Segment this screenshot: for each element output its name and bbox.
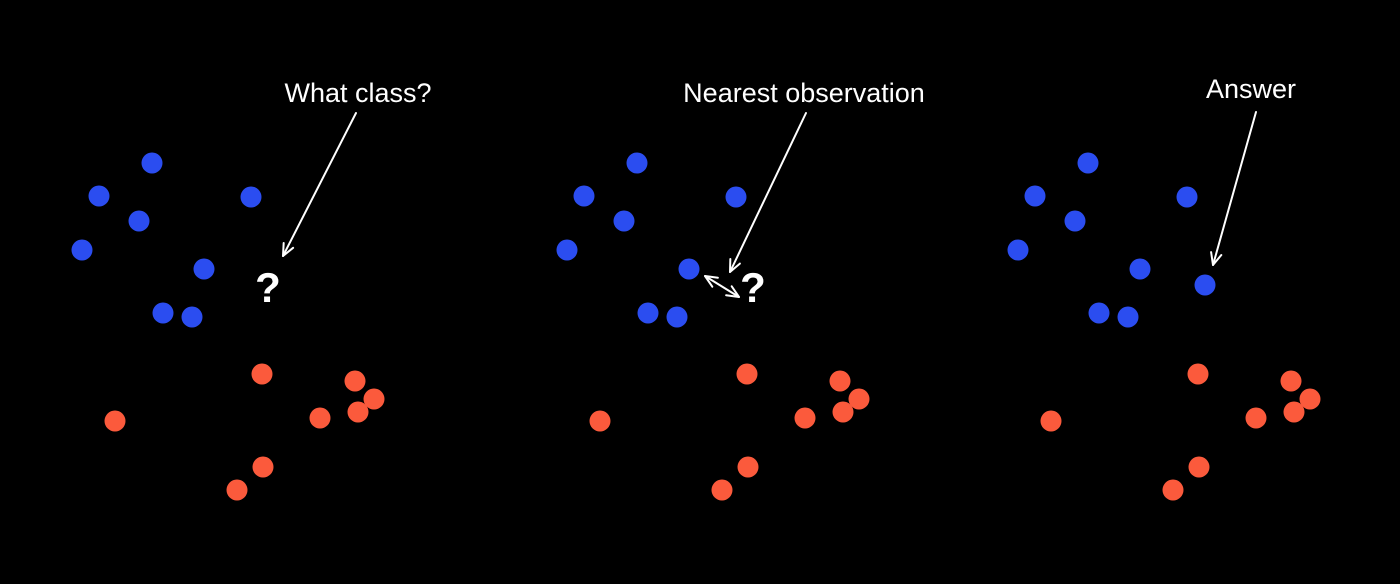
answer-data-point	[1195, 275, 1216, 296]
scatter-panel-3: Answer	[0, 0, 1400, 584]
data-point-class-a	[1118, 307, 1139, 328]
data-point-class-a	[1078, 153, 1099, 174]
data-point-class-b	[1281, 371, 1302, 392]
data-point-class-a	[1089, 303, 1110, 324]
data-point-class-a	[1008, 240, 1029, 261]
data-point-class-b	[1284, 402, 1305, 423]
data-point-class-b	[1246, 408, 1267, 429]
data-point-class-b	[1163, 480, 1184, 501]
data-point-class-a	[1177, 187, 1198, 208]
data-point-class-b	[1188, 364, 1209, 385]
knn-illustration-figure: ?What class??Nearest observationAnswer	[0, 0, 1400, 584]
data-point-class-b	[1041, 411, 1062, 432]
data-point-class-b	[1189, 457, 1210, 478]
data-point-class-a	[1065, 211, 1086, 232]
annotation-label: Answer	[1206, 76, 1296, 103]
data-point-class-a	[1130, 259, 1151, 280]
data-point-class-a	[1025, 186, 1046, 207]
